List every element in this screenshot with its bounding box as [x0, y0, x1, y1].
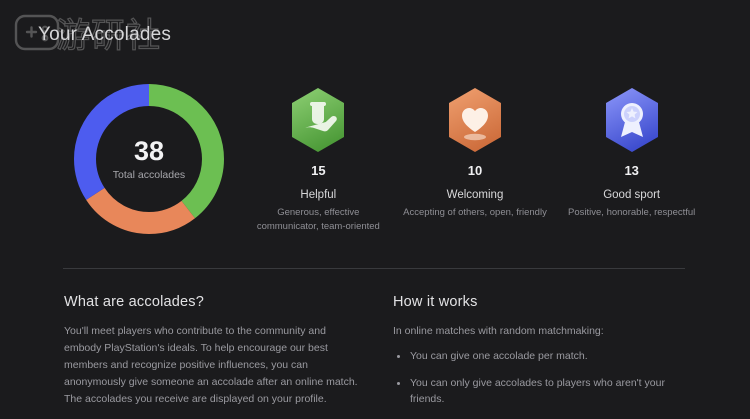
badge-count: 10 [468, 163, 482, 178]
accolades-page: 游研社 Your Accolades 38 Total accolades [0, 0, 750, 419]
badge-name: Welcoming [447, 189, 504, 201]
how-it-works-list: You can give one accolade per match. You… [393, 349, 693, 419]
badge-helpful[interactable]: 15 Helpful Generous, effective communica… [240, 86, 397, 234]
section-body: You'll meet players who contribute to th… [64, 323, 364, 408]
badge-name: Helpful [300, 189, 336, 201]
badge-good-sport[interactable]: 13 Good sport Positive, honorable, respe… [553, 86, 710, 234]
accolades-donut-chart: 38 Total accolades [73, 83, 225, 235]
badge-welcoming[interactable]: 10 Welcoming Accepting of others, open, … [397, 86, 554, 234]
section-heading: How it works [393, 294, 693, 310]
badge-name: Good sport [603, 189, 660, 201]
badge-description: Accepting of others, open, friendly [403, 206, 547, 220]
heart-icon [445, 86, 505, 154]
section-lead: In online matches with random matchmakin… [393, 323, 693, 340]
list-item: You can give one accolade per match. [393, 349, 693, 365]
how-it-works-section: How it works In online matches with rand… [393, 294, 693, 419]
donut-svg [73, 83, 225, 235]
what-are-accolades-section: What are accolades? You'll meet players … [64, 294, 364, 408]
badge-count: 15 [311, 163, 325, 178]
badge-description: Positive, honorable, respectful [568, 206, 695, 220]
section-divider [63, 268, 685, 269]
section-heading: What are accolades? [64, 294, 364, 310]
helping-hand-icon [288, 86, 348, 154]
award-ribbon-icon [602, 86, 662, 154]
badge-count: 13 [624, 163, 638, 178]
badge-description: Generous, effective communicator, team-o… [246, 206, 391, 234]
page-title: Your Accolades [38, 24, 171, 46]
accolade-badges: 15 Helpful Generous, effective communica… [240, 86, 710, 234]
list-item: You can only give accolades to players w… [393, 376, 693, 408]
